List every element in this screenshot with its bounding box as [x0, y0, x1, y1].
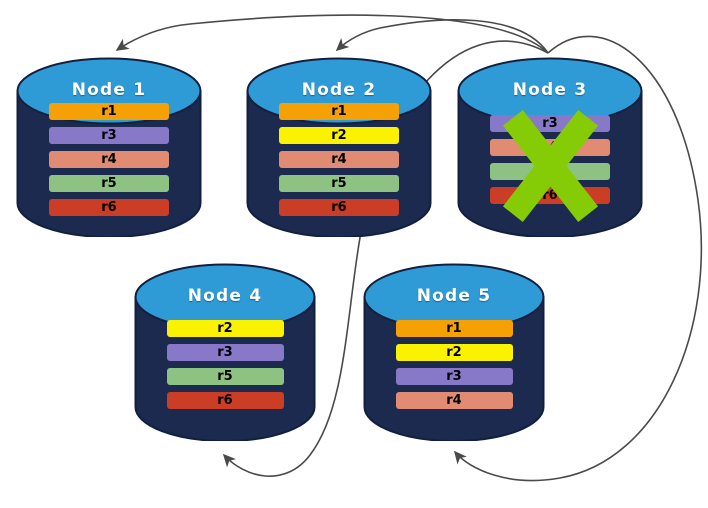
- replica-bar[interactable]: r4: [396, 392, 513, 409]
- replica-label: r6: [542, 188, 557, 203]
- replica-bar[interactable]: r1: [396, 320, 513, 337]
- node-4-title: Node 4: [134, 286, 316, 306]
- replica-label: r1: [101, 104, 116, 119]
- replica-label: r5: [331, 176, 346, 191]
- replica-label: r5: [101, 176, 116, 191]
- replica-label: r5: [217, 369, 232, 384]
- node-4-replica-list: r2r3r5r6: [134, 320, 316, 409]
- replica-label: r4: [101, 152, 116, 167]
- replica-label: r1: [446, 321, 461, 336]
- replica-bar[interactable]: r3: [490, 115, 610, 132]
- replication-diagram: Node 1r1r3r4r5r6Node 2r1r2r4r5r6Node 3r3…: [0, 0, 708, 508]
- replica-bar[interactable]: r3: [49, 127, 169, 144]
- node-3-replica-list: r3r4r5r6: [457, 115, 643, 204]
- replica-label: r2: [331, 128, 346, 143]
- replica-label: r4: [542, 140, 557, 155]
- replica-label: r4: [331, 152, 346, 167]
- replica-label: r3: [542, 116, 557, 131]
- replica-bar[interactable]: r4: [279, 151, 399, 168]
- replica-bar[interactable]: r5: [279, 175, 399, 192]
- replica-label: r3: [217, 345, 232, 360]
- node-2-cylinder[interactable]: Node 2r1r2r4r5r6: [246, 57, 432, 237]
- replica-bar[interactable]: r5: [490, 163, 610, 180]
- node-2-title: Node 2: [246, 80, 432, 100]
- node-5-replica-list: r1r2r3r4: [363, 320, 545, 409]
- replica-bar[interactable]: r3: [396, 368, 513, 385]
- node-2-replica-list: r1r2r4r5r6: [246, 103, 432, 216]
- replica-bar[interactable]: r3: [167, 344, 284, 361]
- replica-label: r6: [101, 200, 116, 215]
- replica-bar[interactable]: r6: [279, 199, 399, 216]
- arrow-node3-to-node1: [117, 15, 548, 53]
- replica-bar[interactable]: r5: [167, 368, 284, 385]
- replica-bar[interactable]: r4: [49, 151, 169, 168]
- replica-bar[interactable]: r2: [396, 344, 513, 361]
- node-1-cylinder[interactable]: Node 1r1r3r4r5r6: [16, 57, 202, 237]
- replica-bar[interactable]: r2: [167, 320, 284, 337]
- replica-label: r5: [542, 164, 557, 179]
- replica-bar[interactable]: r6: [490, 187, 610, 204]
- replica-bar[interactable]: r2: [279, 127, 399, 144]
- replica-label: r2: [446, 345, 461, 360]
- replica-bar[interactable]: r1: [49, 103, 169, 120]
- replica-bar[interactable]: r6: [167, 392, 284, 409]
- node-5-title: Node 5: [363, 286, 545, 306]
- node-4-cylinder[interactable]: Node 4r2r3r5r6: [134, 263, 316, 441]
- node-3-title: Node 3: [457, 80, 643, 100]
- replica-label: r3: [446, 369, 461, 384]
- node-1-replica-list: r1r3r4r5r6: [16, 103, 202, 216]
- replica-label: r2: [217, 321, 232, 336]
- arrow-node3-to-node2: [337, 20, 548, 53]
- replica-label: r6: [217, 393, 232, 408]
- replica-bar[interactable]: r4: [490, 139, 610, 156]
- node-3-cylinder[interactable]: Node 3r3r4r5r6: [457, 57, 643, 237]
- node-5-cylinder[interactable]: Node 5r1r2r3r4: [363, 263, 545, 441]
- replica-bar[interactable]: r5: [49, 175, 169, 192]
- replica-label: r1: [331, 104, 346, 119]
- replica-bar[interactable]: r6: [49, 199, 169, 216]
- replica-label: r6: [331, 200, 346, 215]
- replica-label: r3: [101, 128, 116, 143]
- node-1-title: Node 1: [16, 80, 202, 100]
- replica-label: r4: [446, 393, 461, 408]
- replica-bar[interactable]: r1: [279, 103, 399, 120]
